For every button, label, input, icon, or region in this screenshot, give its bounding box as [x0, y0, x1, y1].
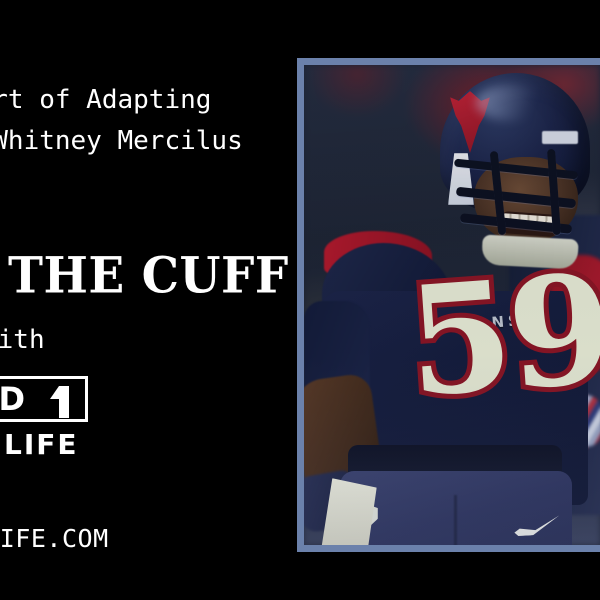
episode-title: The Art of Adapting with Whitney Mercilu…	[0, 80, 334, 162]
episode-title-line-1: The Art of Adapting	[0, 80, 334, 121]
and1-one-glyph-icon	[59, 386, 69, 418]
helmet-chinstrap	[481, 235, 578, 270]
and1-logo-box: AND	[0, 376, 88, 422]
show-name: OFF THE CUFF	[0, 249, 289, 304]
with-label: with	[0, 324, 45, 356]
podcast-episode-card: 2 TEXANS 59	[0, 0, 600, 600]
athlete-photo: 2 TEXANS 59	[304, 65, 600, 545]
athlete-photo-frame: 2 TEXANS 59	[297, 58, 600, 552]
helmet-highlight	[476, 85, 548, 121]
text-column: The Art of Adapting with Whitney Mercilu…	[0, 0, 300, 600]
and1-wordmark: AND	[0, 383, 26, 415]
facemask-bar	[454, 159, 578, 180]
and1-logo: AND LIFE	[0, 376, 90, 422]
helmet-nfl-tab	[542, 131, 578, 144]
and1-life-wordmark: LIFE	[4, 430, 79, 460]
jersey-number: 59	[403, 254, 600, 418]
helmet-facemask	[454, 147, 592, 233]
footer-url: AND1LIFE.COM	[0, 524, 109, 554]
episode-title-line-2: with Whitney Mercilus	[0, 121, 334, 162]
pants-seam	[454, 495, 457, 545]
